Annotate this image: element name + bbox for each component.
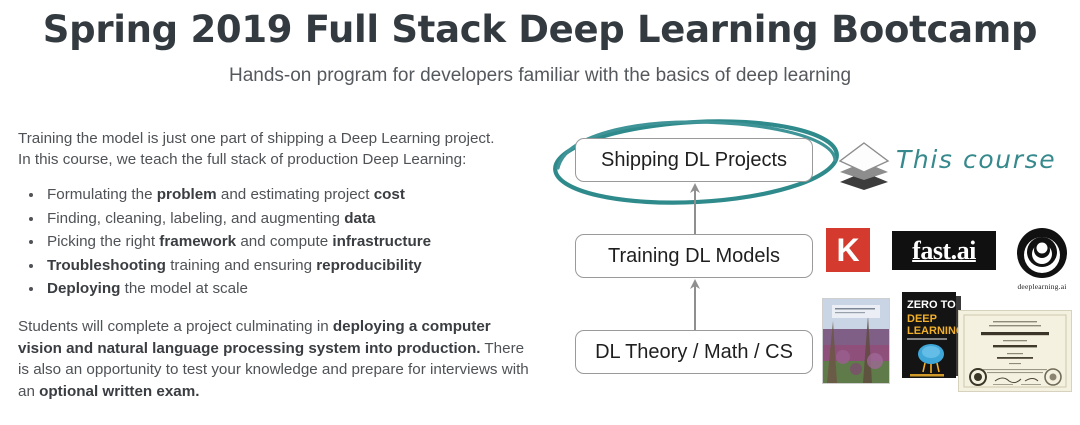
diagram-box-training-dl-models: Training DL Models bbox=[575, 234, 813, 278]
list-item: Formulating the problem and estimating p… bbox=[44, 184, 538, 205]
list-item: Deploying the model at scale bbox=[44, 278, 538, 299]
emphasis-text: infrastructure bbox=[332, 233, 431, 250]
fastai-logo: fast.ai bbox=[892, 231, 996, 270]
deeplearning-ai-logo-label: deeplearning.ai bbox=[1006, 282, 1078, 291]
this-course-label: This course bbox=[896, 145, 1056, 174]
diagram-box-dl-theory-math-cs: DL Theory / Math / CS bbox=[575, 330, 813, 374]
diagram-box-label: Shipping DL Projects bbox=[601, 149, 787, 172]
page-header: Spring 2019 Full Stack Deep Learning Boo… bbox=[0, 0, 1080, 87]
media-thumbnail-strip: ZERO TO DEEP LEARNING bbox=[818, 296, 1080, 421]
landscape-book-cover-thumbnail bbox=[822, 298, 890, 384]
zero-to-deep-learning-book-thumbnail: ZERO TO DEEP LEARNING bbox=[898, 290, 964, 382]
fastai-logo-label: fast.ai bbox=[912, 236, 976, 266]
plain-text: Students will complete a project culmina… bbox=[18, 318, 333, 335]
emphasis-text: framework bbox=[159, 233, 236, 250]
page-subtitle: Hands-on program for developers familiar… bbox=[0, 51, 1080, 87]
arrow-training-to-shipping-icon bbox=[688, 182, 702, 234]
plain-text: Picking the right bbox=[47, 233, 159, 250]
page-title: Spring 2019 Full Stack Deep Learning Boo… bbox=[0, 0, 1080, 51]
emphasis-text: data bbox=[344, 210, 375, 227]
plain-text: Formulating the bbox=[47, 186, 157, 203]
list-item: Picking the right framework and compute … bbox=[44, 231, 538, 252]
kaggle-logo-label: K bbox=[836, 232, 859, 269]
intro-line-1: Training the model is just one part of s… bbox=[18, 130, 494, 147]
diagram-box-shipping-dl-projects: Shipping DL Projects bbox=[575, 138, 813, 182]
closing-paragraph: Students will complete a project culmina… bbox=[18, 316, 538, 402]
diagram-box-label: DL Theory / Math / CS bbox=[595, 341, 793, 364]
intro-line-2: In this course, we teach the full stack … bbox=[18, 151, 466, 168]
deeplearning-ai-spiral-icon bbox=[1016, 226, 1068, 278]
emphasis-text: reproducibility bbox=[316, 257, 421, 274]
deeplearning-ai-logo: deeplearning.ai bbox=[1006, 226, 1078, 304]
kaggle-logo: K bbox=[826, 228, 870, 272]
list-item: Finding, cleaning, labeling, and augment… bbox=[44, 208, 538, 229]
svg-text:DEEP: DEEP bbox=[907, 313, 937, 325]
plain-text: and compute bbox=[236, 233, 332, 250]
emphasis-text: Deploying bbox=[47, 280, 120, 297]
plain-text: Finding, cleaning, labeling, and augment… bbox=[47, 210, 344, 227]
plain-text: training and ensuring bbox=[166, 257, 316, 274]
curriculum-list: Formulating the problem and estimating p… bbox=[18, 184, 538, 299]
plain-text: the model at scale bbox=[120, 280, 247, 297]
this-course-annotation: This course bbox=[838, 140, 1068, 194]
diagram-box-label: Training DL Models bbox=[608, 245, 780, 268]
emphasis-text: cost bbox=[374, 186, 405, 203]
plain-text: and estimating project bbox=[217, 186, 374, 203]
list-item: Troubleshooting training and ensuring re… bbox=[44, 255, 538, 276]
course-description-column: Training the model is just one part of s… bbox=[18, 128, 538, 402]
university-diploma-thumbnail bbox=[958, 310, 1072, 392]
layers-stack-icon bbox=[838, 142, 890, 190]
svg-text:ZERO TO: ZERO TO bbox=[907, 299, 956, 311]
intro-paragraph: Training the model is just one part of s… bbox=[18, 128, 538, 170]
emphasis-text: Troubleshooting bbox=[47, 257, 166, 274]
svg-text:LEARNING: LEARNING bbox=[907, 325, 964, 337]
emphasis-text: problem bbox=[157, 186, 217, 203]
arrow-theory-to-training-icon bbox=[688, 278, 702, 330]
emphasis-text: optional written exam. bbox=[39, 383, 199, 400]
